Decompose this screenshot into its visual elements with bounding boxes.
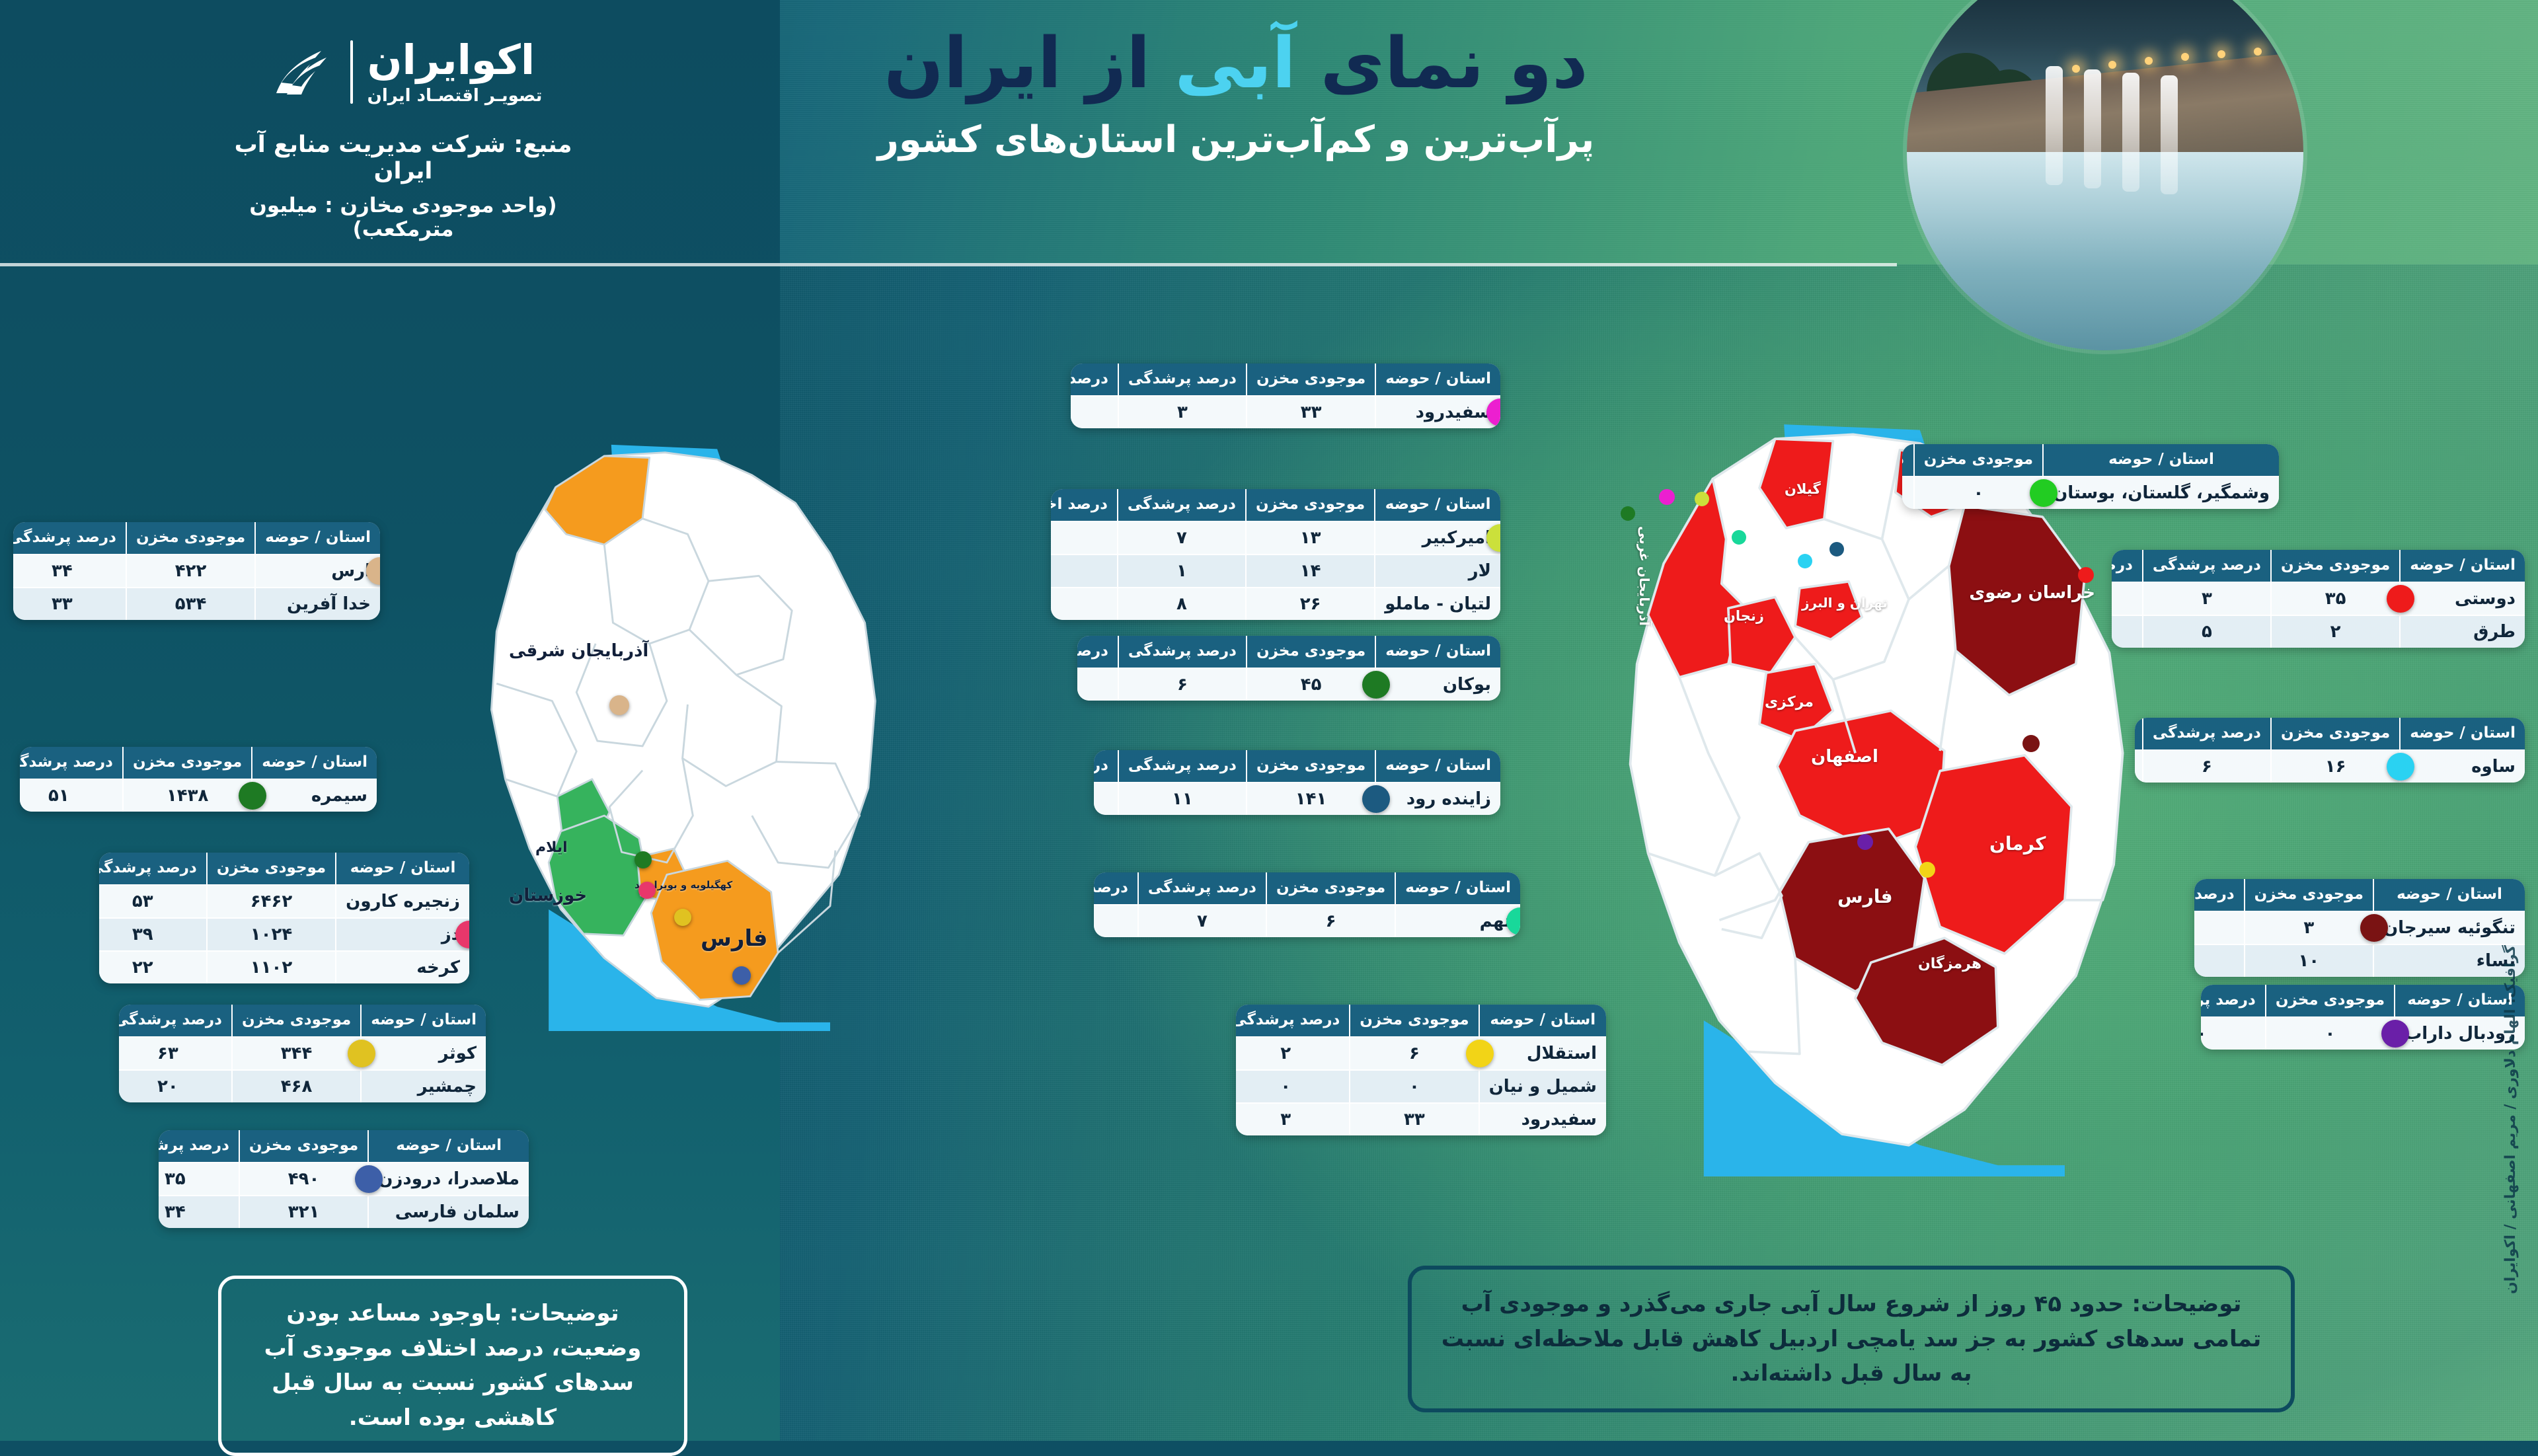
map-dot-dusti	[2078, 567, 2094, 583]
table-kowsar: استان / حوضهموجودی مخزندرصد پرشدگیدرصد ا…	[119, 1005, 486, 1102]
legend-color-dot	[355, 1165, 383, 1193]
table-header-row: استان / حوضهموجودی مخزندرصد پرشدگیدرصد ا…	[1236, 1005, 1606, 1037]
column-header-diff: درصد اختلاف با سال قبل	[1071, 364, 1118, 396]
column-header-volume: موجودی مخزن	[1247, 750, 1375, 783]
legend-color-dot	[1362, 785, 1390, 813]
column-header-fill: درصد پرشدگی	[2194, 879, 2245, 911]
cell-basin-name: طرق	[2400, 615, 2525, 648]
table-row: شمیل و نیان۰۰-۱۰۰	[1236, 1070, 1606, 1103]
cell-volume: ۱۴۳۸	[123, 779, 252, 812]
cell-fill: ۳۹	[99, 918, 207, 951]
table-row: کرخه۱۱۰۲۲۲-۴۸	[99, 951, 469, 983]
column-header-volume: موجودی مخزن	[2266, 985, 2395, 1017]
map-label-zanjan: زنجان	[1724, 608, 1764, 624]
cell-volume: ۴۶۸	[232, 1070, 361, 1102]
cell-volume: ۱۴۱	[1247, 783, 1375, 815]
column-header-name: استان / حوضه	[1375, 489, 1500, 521]
map-dot-bukan	[1621, 506, 1635, 521]
dam-light-icon	[2254, 48, 2262, 56]
cell-diff: -۵۱	[2112, 615, 2143, 648]
title-part-1: دو نمای	[1321, 22, 1588, 104]
map-dot-esteghlal	[1919, 862, 1935, 878]
cell-diff: -۷۹	[2112, 582, 2143, 615]
table-header-row: استان / حوضهموجودی مخزندرصد پرشدگیدرصد ا…	[2135, 718, 2525, 750]
column-header-volume: موجودی مخزن	[126, 522, 255, 555]
map-dot-kowsar	[674, 909, 691, 926]
legend-color-dot	[1466, 1040, 1494, 1067]
column-header-volume: موجودی مخزن	[2271, 718, 2400, 750]
table-row: دوستی۳۵۳-۷۹	[2112, 582, 2525, 615]
table-row: ساوه۱۶۶-۱۴	[2135, 750, 2525, 783]
cell-basin-name: ارس	[255, 555, 380, 588]
cell-fill: ۳۴	[159, 1196, 239, 1228]
cell-volume: ۶	[1350, 1037, 1479, 1070]
cell-basin-name: سفیدرود	[1479, 1103, 1606, 1135]
column-header-fill: درصد پرشدگی	[159, 1130, 239, 1163]
map-dot-seymareh	[634, 851, 652, 868]
column-header-name: استان / حوضه	[2373, 879, 2525, 911]
table-row: طرق۲۵-۵۱	[2112, 615, 2525, 648]
map-label-east-azarbaijan: آذربایجان شرقی	[509, 641, 648, 661]
waterfall-icon	[2122, 73, 2139, 192]
map-dot-amirkabir	[1695, 492, 1709, 506]
cell-volume: ۴۵	[1247, 668, 1375, 701]
column-header-name: استان / حوضه	[361, 1005, 486, 1037]
table-header-row: استان / حوضهموجودی مخزندرصد پرشدگیدرصد ا…	[1094, 750, 1500, 783]
cell-basin-name: لتیان - ماملو	[1375, 588, 1500, 620]
cell-basin-name: زنجیره کارون	[336, 885, 469, 918]
table-row: نساء۱۰۶-۵۶	[2194, 944, 2525, 977]
header-divider	[0, 263, 1897, 266]
credit-label: گرافیک: الهام دلاوری / مریم اصفهانی / اک…	[2496, 945, 2526, 1294]
column-header-name: استان / حوضه	[1479, 1005, 1606, 1037]
map-dot-rudbal	[1857, 834, 1873, 850]
logo-text: اکوایران تصویـر اقتصـاد ایران	[367, 40, 543, 104]
table-header-row: استان / حوضهموجودی مخزندرصد پرشدگیدرصد ا…	[2112, 550, 2525, 582]
table-header-row: استان / حوضهموجودی مخزندرصد پرشدگیدرصد ا…	[159, 1130, 529, 1163]
column-header-fill: درصد پرشدگی	[1902, 444, 1914, 477]
table-kerman: استان / حوضهموجودی مخزندرصد پرشدگیدرصد ا…	[2194, 879, 2525, 977]
table-row: سلمان فارسی۳۲۱۳۴-۲۸	[159, 1196, 529, 1228]
table-row: زاینده رود۱۴۱۱۱-۴۲	[1094, 783, 1500, 815]
table-row: استقلال۶۲-۷۲	[1236, 1037, 1606, 1070]
dam-water	[1907, 152, 2303, 350]
cell-basin-name: سفیدرود	[1375, 396, 1500, 428]
table-row: چمشیر۴۶۸۲۰-۳۴	[119, 1070, 486, 1102]
logo-divider	[350, 40, 353, 104]
cell-volume: ۶	[1266, 905, 1395, 937]
table-row: خدا آفرین۵۳۴۳۳-۸	[13, 588, 380, 620]
map-label-khuzestan: خوزستان	[509, 886, 587, 905]
dam-light-icon	[2108, 61, 2116, 69]
cell-basin-name: شمیل و نیان	[1479, 1070, 1606, 1103]
column-header-fill: درصد پرشدگی	[20, 747, 123, 779]
column-header-volume: موجودی مخزن	[239, 1130, 368, 1163]
legend-color-dot	[348, 1040, 375, 1067]
map-label-gilan: گیلان	[1785, 481, 1821, 497]
table-row: تنگوئیه سیرجان۳۶-۱۴	[2194, 911, 2525, 944]
dam-light-icon	[2145, 57, 2153, 65]
cell-fill: ۷	[1138, 905, 1266, 937]
column-header-fill: درصد پرشدگی	[1118, 364, 1247, 396]
cell-basin-name: چمشیر	[361, 1070, 486, 1102]
cell-volume: ۱۰۲۴	[207, 918, 336, 951]
column-header-name: استان / حوضه	[2400, 718, 2525, 750]
column-header-name: استان / حوضه	[2400, 550, 2525, 582]
column-header-volume: موجودی مخزن	[1350, 1005, 1479, 1037]
table-header-row: استان / حوضهموجودی مخزندرصد پرشدگیدرصد ا…	[2194, 879, 2525, 911]
table-tehran: استان / حوضهموجودی مخزندرصد پرشدگیدرصد ا…	[1051, 489, 1500, 620]
cell-fill: ۳۴	[13, 555, 126, 588]
column-header-fill: درصد پرشدگی	[1236, 1005, 1350, 1037]
cell-volume: ۰	[1914, 477, 2043, 509]
table-aras: استان / حوضهموجودی مخزندرصد پرشدگیدرصد ا…	[13, 522, 380, 620]
column-header-fill: درصد پرشدگی	[13, 522, 126, 555]
cell-basin-name: امیرکبیر	[1375, 521, 1500, 555]
column-header-fill: درصد پرشدگی	[2201, 985, 2266, 1017]
cell-basin-name: بوکان	[1375, 668, 1500, 701]
cell-volume: ۱۰	[2245, 944, 2373, 977]
table-header-row: استان / حوضهموجودی مخزندرصد پرشدگیدرصد ا…	[1051, 489, 1500, 521]
cell-basin-name: کرخه	[336, 951, 469, 983]
map-label-hormozgan: هرمزگان	[1918, 956, 1981, 972]
table-header-row: استان / حوضهموجودی مخزندرصد پرشدگیدرصد ا…	[1071, 364, 1500, 396]
column-header-volume: موجودی مخزن	[2245, 879, 2373, 911]
column-header-volume: موجودی مخزن	[1246, 489, 1375, 521]
table-header-row: استان / حوضهموجودی مخزندرصد پرشدگیدرصد ا…	[2201, 985, 2525, 1017]
map-dot-zayandehrud	[1829, 542, 1844, 556]
table-header-row: استان / حوضهموجودی مخزندرصد پرشدگیدرصد ا…	[20, 747, 377, 779]
cell-fill: ۲	[1236, 1037, 1350, 1070]
dam-light-icon	[2217, 50, 2225, 58]
map-dot-saveh	[1798, 554, 1812, 568]
column-header-volume: موجودی مخزن	[232, 1005, 361, 1037]
legend-color-dot	[2030, 479, 2057, 507]
cell-volume: ۰	[2266, 1017, 2395, 1050]
cell-volume: ۱۶	[2271, 750, 2400, 783]
cell-volume: ۳۴۴	[232, 1037, 361, 1070]
cell-volume: ۰	[1350, 1070, 1479, 1103]
cell-volume: ۱۳	[1246, 521, 1375, 555]
page-subtitle: پرآب‌ترین و کم‌آب‌ترین استان‌های کشور	[674, 118, 1798, 161]
logo-title: اکوایران	[367, 40, 535, 81]
table-row: رودبال داراب۰۰-۷۳	[2201, 1017, 2525, 1050]
table-header-row: استان / حوضهموجودی مخزندرصد پرشدگیدرصد ا…	[1902, 444, 2279, 477]
column-header-volume: موجودی مخزن	[1247, 364, 1375, 396]
legend-color-dot	[2381, 1020, 2409, 1048]
cell-fill: ۳۵	[159, 1163, 239, 1196]
cell-basin-name: خدا آفرین	[255, 588, 380, 620]
map-dot-fars	[732, 966, 751, 985]
table-row: تهم۶۷-۵۶	[1094, 905, 1520, 937]
legend-color-dot	[2360, 914, 2388, 942]
cell-diff: -۸۴	[1071, 396, 1118, 428]
column-header-name: استان / حوضه	[2043, 444, 2279, 477]
table-row: امیرکبیر۱۳۷-۸۴	[1051, 521, 1500, 555]
column-header-fill: درصد پرشدگی	[119, 1005, 232, 1037]
dam-light-icon	[2181, 53, 2189, 61]
cell-volume: ۳۵	[2271, 582, 2400, 615]
cell-volume: ۲	[2271, 615, 2400, 648]
cell-volume: ۲۶	[1246, 588, 1375, 620]
table-zayandehrud: استان / حوضهموجودی مخزندرصد پرشدگیدرصد ا…	[1094, 750, 1500, 815]
column-header-fill: درصد پرشدگی	[2143, 550, 2271, 582]
dam-photo	[1907, 0, 2303, 350]
cell-fill: ۳۳	[13, 588, 126, 620]
map-label-tehran-alborz: تهران و البرز	[1802, 595, 1888, 611]
cell-basin-name: لار	[1375, 555, 1500, 588]
cell-fill: ۲۲	[99, 951, 207, 983]
column-header-name: استان / حوضه	[368, 1130, 529, 1163]
cell-basin-name: کوثر	[361, 1037, 486, 1070]
table-seymareh: استان / حوضهموجودی مخزندرصد پرشدگیدرصد ا…	[20, 747, 377, 812]
map-dot-tahm	[1732, 530, 1746, 545]
map-dot-sefidrud	[1659, 489, 1675, 505]
cell-volume: ۴۹۰	[239, 1163, 368, 1196]
source-label: منبع: شرکت مدیریت منابع آب ایران	[218, 132, 588, 184]
cell-fill: ۵۳	[99, 885, 207, 918]
map-label-markazi: مرکزی	[1765, 694, 1814, 710]
map-label-esfahan: اصفهان	[1811, 747, 1878, 767]
cell-fill: ۶۳	[119, 1037, 232, 1070]
page-title: دو نمای آبی از ایران	[674, 20, 1798, 108]
cell-fill: ۶	[2194, 944, 2245, 977]
table-bukan: استان / حوضهموجودی مخزندرصد پرشدگیدرصد ا…	[1077, 636, 1500, 701]
cell-basin-name: ملاصدرا، درودزن	[368, 1163, 529, 1196]
cell-volume: ۵۳۴	[126, 588, 255, 620]
table-header-row: استان / حوضهموجودی مخزندرصد پرشدگیدرصد ا…	[119, 1005, 486, 1037]
table-row: بوکان۴۵۶-۷۶	[1077, 668, 1500, 701]
cell-basin-name: دوستی	[2400, 582, 2525, 615]
legend-color-dot	[2387, 753, 2414, 781]
table-rudbal: استان / حوضهموجودی مخزندرصد پرشدگیدرصد ا…	[2201, 985, 2525, 1050]
unit-label: (واحد موجودی مخازن : میلیون مترمکعب)	[218, 194, 588, 241]
column-header-diff: درصد اختلاف با سال قبل	[1077, 636, 1118, 668]
map-label-khorasan-razavi: خراسان رضوی	[1996, 583, 2095, 603]
map-label-fars: فارس	[701, 925, 768, 952]
table-row: وشمگیر، گلستان، بوستان۰۰-۹۹	[1902, 477, 2279, 509]
column-header-name: استان / حوضه	[252, 747, 377, 779]
cell-basin-name: تهم	[1395, 905, 1520, 937]
legend-color-dot	[2387, 585, 2414, 613]
cell-diff: -۷۶	[1077, 668, 1118, 701]
map-dot-tanguiyeh	[2022, 735, 2040, 752]
cell-fill: ۳	[1236, 1103, 1350, 1135]
logo-block: اکوایران تصویـر اقتصـاد ایران منبع: شرکت…	[218, 36, 588, 241]
map-label-ilam: ایلام	[535, 839, 568, 856]
cell-fill: ۱	[1118, 555, 1246, 588]
map-label-west-azarbaijan: آذربایجان غربی	[1636, 526, 1652, 626]
table-row: سفیدرود۳۳۳-۸۴	[1071, 396, 1500, 428]
cell-basin-name: سلمان فارسی	[368, 1196, 529, 1228]
cell-volume: ۳۲۱	[239, 1196, 368, 1228]
table-header-row: استان / حوضهموجودی مخزندرصد پرشدگیدرصد ا…	[1094, 872, 1520, 905]
column-header-fill: درصد پرشدگی	[1118, 750, 1247, 783]
cell-volume: ۶۴۶۲	[207, 885, 336, 918]
map-label-kerman: کرمان	[1989, 833, 2046, 855]
legend-color-dot	[1362, 671, 1390, 699]
cell-basin-name: ساوه	[2400, 750, 2525, 783]
column-header-volume: موجودی مخزن	[207, 853, 336, 885]
cell-basin-name: استقلال	[1479, 1037, 1606, 1070]
column-header-name: استان / حوضه	[255, 522, 380, 555]
column-header-volume: موجودی مخزن	[1266, 872, 1395, 905]
table-row: دز۱۰۲۴۳۹-۵	[99, 918, 469, 951]
cell-volume: ۳	[2245, 911, 2373, 944]
table-row: سیمره۱۴۳۸۵۱-۵	[20, 779, 377, 812]
cell-fill: ۰	[1236, 1070, 1350, 1103]
table-fars: استان / حوضهموجودی مخزندرصد پرشدگیدرصد ا…	[159, 1130, 529, 1228]
cell-volume: ۴۲۲	[126, 555, 255, 588]
cell-fill: ۶	[2143, 750, 2271, 783]
title-block: دو نمای آبی از ایران پرآب‌ترین و کم‌آب‌ت…	[674, 20, 1798, 161]
waterfall-icon	[2084, 69, 2101, 188]
note-left: توضیحات: باوجود مساعد بودن وضعیت، درصد ا…	[218, 1276, 687, 1456]
column-header-volume: موجودی مخزن	[123, 747, 252, 779]
table-row: کوثر۳۴۴۶۳-۲۸	[119, 1037, 486, 1070]
column-header-fill: درصد پرشدگی	[99, 853, 207, 885]
cell-fill: ۰	[1902, 477, 1914, 509]
cell-diff: -۸۴	[1051, 521, 1118, 555]
column-header-fill: درصد پرشدگی	[2143, 718, 2271, 750]
cell-fill: ۲۰	[119, 1070, 232, 1102]
table-saveh: استان / حوضهموجودی مخزندرصد پرشدگیدرصد ا…	[2135, 718, 2525, 783]
cell-volume: ۱۱۰۲	[207, 951, 336, 983]
cell-volume: ۱۴	[1246, 555, 1375, 588]
cell-diff: -۵۶	[1094, 905, 1138, 937]
table-golestan: استان / حوضهموجودی مخزندرصد پرشدگیدرصد ا…	[1902, 444, 2279, 509]
table-row: سفیدرود۳۳۳-۸۴	[1236, 1103, 1606, 1135]
table-sefidrud-top: استان / حوضهموجودی مخزندرصد پرشدگیدرصد ا…	[1071, 364, 1500, 428]
column-header-volume: موجودی مخزن	[1914, 444, 2043, 477]
table-row: لار۱۴۱-۵۱	[1051, 555, 1500, 588]
column-header-name: استان / حوضه	[1375, 636, 1500, 668]
cell-diff: -۴۲	[1094, 783, 1118, 815]
column-header-fill: درصد پرشدگی	[1138, 872, 1266, 905]
table-header-row: استان / حوضهموجودی مخزندرصد پرشدگیدرصد ا…	[1077, 636, 1500, 668]
cell-basin-name: تنگوئیه سیرجان	[2373, 911, 2525, 944]
column-header-diff: درصد اختلاف با سال قبل	[1094, 872, 1138, 905]
column-header-fill: درصد پرشدگی	[1118, 489, 1246, 521]
column-header-fill: درصد پرشدگی	[1118, 636, 1247, 668]
cell-basin-name: وشمگیر، گلستان، بوستان	[2043, 477, 2279, 509]
column-header-diff: درصد اختلاف با سال قبل	[1051, 489, 1118, 521]
cell-fill: ۵	[2143, 615, 2271, 648]
legend-color-dot	[239, 782, 266, 810]
logo-row: اکوایران تصویـر اقتصـاد ایران	[218, 36, 588, 108]
cell-fill: ۰	[2201, 1017, 2266, 1050]
cell-fill: ۱۱	[1118, 783, 1247, 815]
cell-fill: ۳	[2143, 582, 2271, 615]
cell-fill: ۸	[1118, 588, 1246, 620]
column-header-name: استان / حوضه	[1375, 364, 1500, 396]
cell-volume: ۳۳	[1247, 396, 1375, 428]
table-hormozgan: استان / حوضهموجودی مخزندرصد پرشدگیدرصد ا…	[1236, 1005, 1606, 1135]
map-dot-aras	[609, 695, 629, 715]
table-row: لتیان - ماملو۲۶۸-۶۰	[1051, 588, 1500, 620]
cell-diff: -۶۰	[1051, 588, 1118, 620]
title-highlight: آبی	[1174, 22, 1295, 104]
column-header-name: استان / حوضه	[336, 853, 469, 885]
table-row: ملاصدرا، درودزن۴۹۰۳۵-۲۴	[159, 1163, 529, 1196]
cell-fill: ۶	[2194, 911, 2245, 944]
table-khorasan: استان / حوضهموجودی مخزندرصد پرشدگیدرصد ا…	[2112, 550, 2525, 648]
column-header-diff: درصد اختلاف با سال قبل	[1094, 750, 1118, 783]
table-header-row: استان / حوضهموجودی مخزندرصد پرشدگیدرصد ا…	[13, 522, 380, 555]
cell-basin-name: سیمره	[252, 779, 377, 812]
cell-fill: ۵۱	[20, 779, 123, 812]
table-tahm: استان / حوضهموجودی مخزندرصد پرشدگیدرصد ا…	[1094, 872, 1520, 937]
table-row: زنجیره کارون۶۴۶۲۵۳-۱۴	[99, 885, 469, 918]
column-header-volume: موجودی مخزن	[2271, 550, 2400, 582]
cell-basin-name: زاینده رود	[1375, 783, 1500, 815]
note-right: توضیحات: حدود ۴۵ روز از شروع سال آبی جار…	[1408, 1266, 2295, 1412]
waterfall-icon	[2161, 75, 2178, 194]
table-row: ارس۴۲۲۳۴-۲۶	[13, 555, 380, 588]
title-part-2: از ایران	[884, 22, 1150, 104]
map-label-fars-right: فارس	[1837, 886, 1893, 907]
table-khuzestan: استان / حوضهموجودی مخزندرصد پرشدگیدرصد ا…	[99, 853, 469, 983]
cell-fill: ۶	[1118, 668, 1247, 701]
waterfall-icon	[2046, 66, 2063, 185]
column-header-diff: درصد اختلاف با سال قبل	[2112, 550, 2143, 582]
logo-subtitle: تصویـر اقتصـاد ایران	[367, 87, 543, 104]
ecoiran-wing-icon	[264, 36, 336, 108]
map-dot-dez	[638, 882, 656, 899]
dam-light-icon	[2072, 65, 2080, 73]
cell-volume: ۳۳	[1350, 1103, 1479, 1135]
column-header-name: استان / حوضه	[1395, 872, 1520, 905]
table-header-row: استان / حوضهموجودی مخزندرصد پرشدگیدرصد ا…	[99, 853, 469, 885]
cell-basin-name: دز	[336, 918, 469, 951]
cell-fill: ۷	[1118, 521, 1246, 555]
cell-diff: -۵۱	[1051, 555, 1118, 588]
cell-fill: ۳	[1118, 396, 1247, 428]
column-header-name: استان / حوضه	[1375, 750, 1500, 783]
column-header-volume: موجودی مخزن	[1247, 636, 1375, 668]
